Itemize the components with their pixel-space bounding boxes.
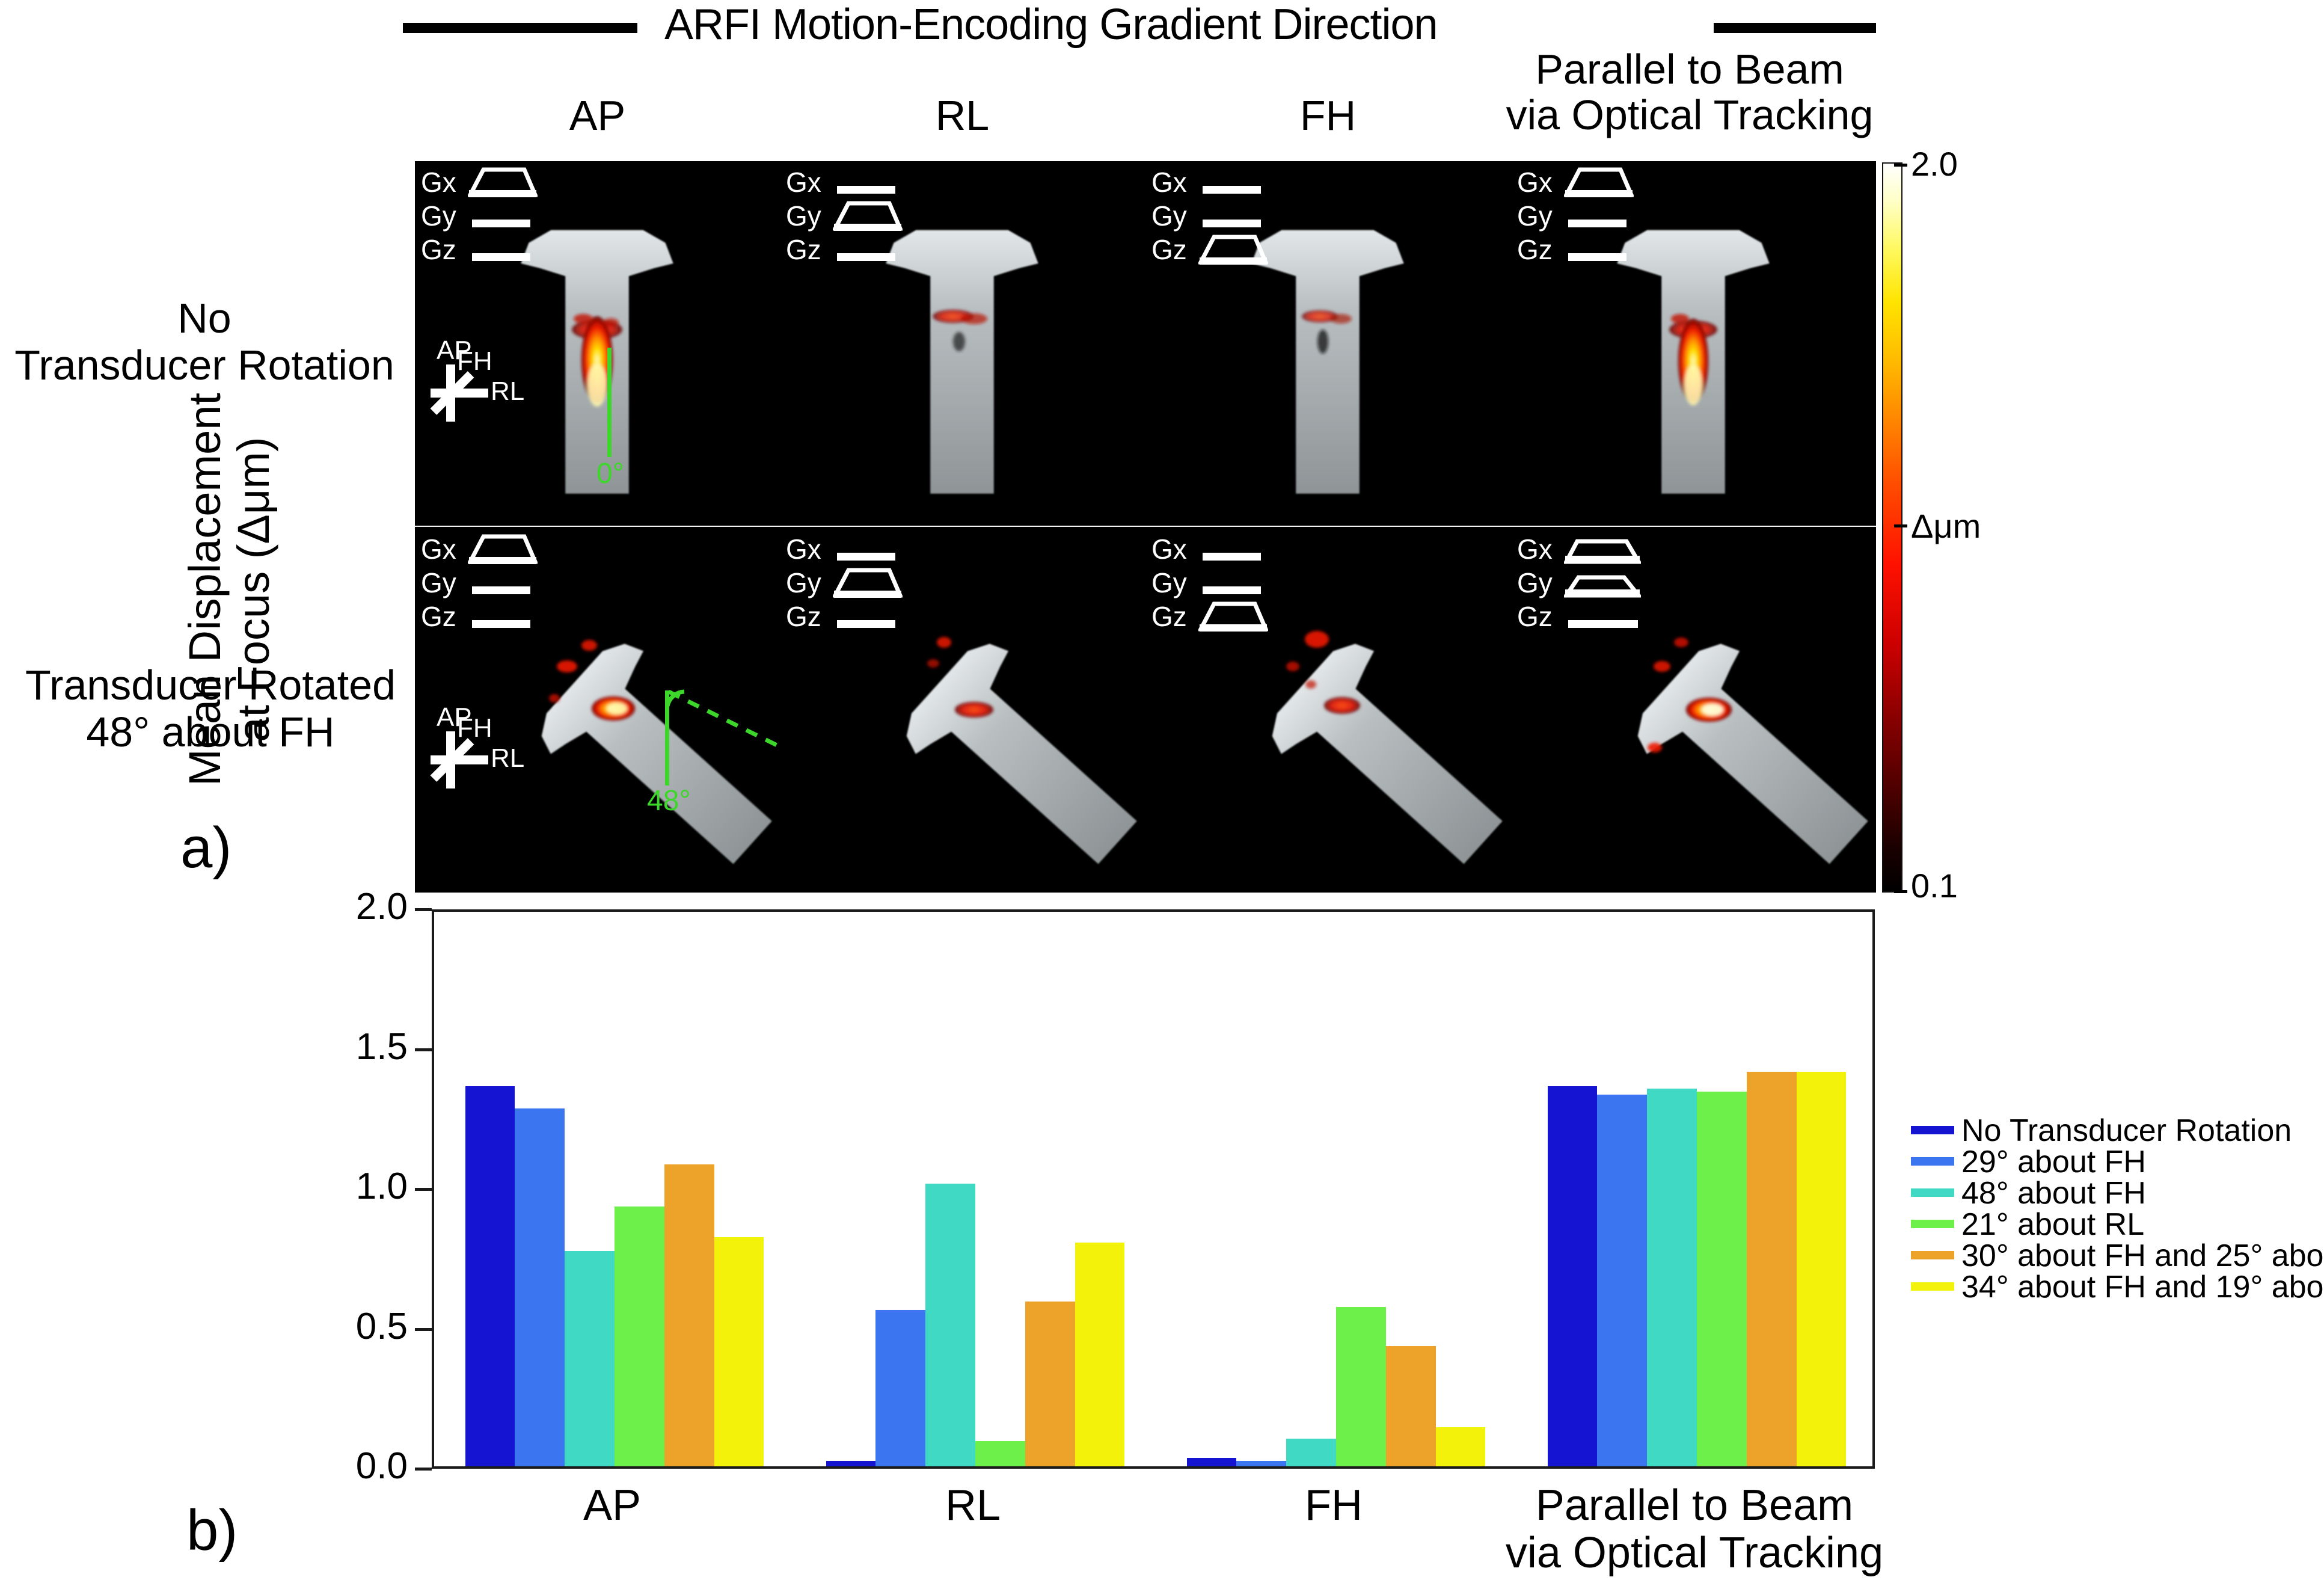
gradient-label-gy: Gy bbox=[1151, 202, 1187, 230]
y-tick-label-1.0: 1.0 bbox=[299, 1165, 408, 1208]
gradient-pulse-gz-icon bbox=[1198, 600, 1268, 635]
figure-root: ARFI Motion-Encoding Gradient Direction … bbox=[0, 0, 2324, 1583]
legend-swatch-0 bbox=[1911, 1126, 1954, 1134]
gradient-pulse-gy-icon bbox=[833, 200, 903, 234]
bar-fh-series5 bbox=[1436, 1427, 1486, 1466]
bar-rl-series2 bbox=[925, 1184, 975, 1466]
bar-ap-series2 bbox=[565, 1251, 615, 1466]
figure-header-title: ARFI Motion-Encoding Gradient Direction bbox=[664, 0, 1438, 49]
gradient-label-gy: Gy bbox=[1517, 569, 1553, 597]
gradient-flat-gz-icon bbox=[837, 253, 895, 261]
colorbar-unit-label: Δμm bbox=[1911, 506, 1981, 546]
bar-rl-series0 bbox=[826, 1461, 876, 1466]
y-tick-label-0.5: 0.5 bbox=[299, 1305, 408, 1348]
gradient-flat-gy-icon bbox=[472, 220, 530, 227]
colorbar-label-max: 2.0 bbox=[1911, 144, 1958, 183]
gradient-label-gy: Gy bbox=[786, 202, 821, 230]
gradient-label-gx: Gx bbox=[1151, 168, 1187, 196]
gradient-label-gz: Gz bbox=[421, 236, 456, 263]
bar-parallel-series1 bbox=[1597, 1095, 1647, 1466]
gradient-label-gx: Gx bbox=[421, 168, 456, 196]
y-axis-title-line2: at Focus (Δμm) bbox=[229, 289, 278, 890]
legend-swatch-4 bbox=[1911, 1251, 1954, 1259]
displacement-colorbar bbox=[1882, 162, 1902, 893]
gradient-pulse-low-gx-icon bbox=[1564, 533, 1641, 567]
gradient-pulse-gz-icon bbox=[1198, 233, 1268, 268]
bar-fh-series2 bbox=[1286, 1439, 1336, 1467]
x-tick-label-parallel: Parallel to Beamvia Optical Tracking bbox=[1424, 1482, 1965, 1577]
column-header-ap: AP bbox=[415, 93, 780, 139]
bar-parallel-series5 bbox=[1797, 1072, 1847, 1466]
gradient-label-gx: Gx bbox=[1517, 535, 1553, 563]
x-tick-label-line2: via Optical Tracking bbox=[1424, 1529, 1965, 1577]
gradient-label-gz: Gz bbox=[1151, 603, 1187, 630]
bar-series-container bbox=[434, 912, 1872, 1466]
gradient-label-gx: Gx bbox=[1517, 168, 1553, 196]
colorbar-tick-mid bbox=[1894, 524, 1907, 527]
legend-swatch-2 bbox=[1911, 1188, 1954, 1197]
panel-b-letter: b) bbox=[186, 1498, 238, 1564]
bar-ap-series4 bbox=[664, 1164, 714, 1466]
bar-ap-series5 bbox=[714, 1237, 764, 1466]
colorbar-label-min: 0.1 bbox=[1911, 866, 1958, 905]
bar-parallel-series0 bbox=[1548, 1086, 1598, 1466]
column-header-rl-line1: RL bbox=[780, 93, 1145, 139]
legend-swatch-3 bbox=[1911, 1220, 1954, 1228]
gradient-label-gx: Gx bbox=[421, 535, 456, 563]
gradient-label-gz: Gz bbox=[1151, 236, 1187, 263]
gradient-label-gz: Gz bbox=[1517, 236, 1553, 263]
legend-label-2: 48° about FH bbox=[1961, 1175, 2146, 1211]
colorbar-tick-max bbox=[1894, 164, 1907, 167]
gradient-flat-gy-icon bbox=[1203, 586, 1261, 594]
gradient-flat-gy-icon bbox=[1203, 220, 1261, 227]
legend-swatch-1 bbox=[1911, 1157, 1954, 1166]
column-header-fh-line1: FH bbox=[1145, 93, 1510, 139]
bar-chart-plot-area bbox=[432, 909, 1875, 1469]
column-header-parallel-beam: Parallel to Beam via Optical Tracking bbox=[1479, 47, 1900, 138]
bar-rl-series1 bbox=[875, 1310, 925, 1466]
y-axis-title: Mean Displacement at Focus (Δμm) bbox=[180, 289, 278, 890]
gradient-label-gz: Gz bbox=[1517, 603, 1553, 630]
mri-image-mosaic: Gx Gy Gz Gx Gy Gz Gx Gy Gz bbox=[415, 161, 1876, 893]
gradient-flat-gy-icon bbox=[472, 586, 530, 594]
column-header-parallel-line1: Parallel to Beam bbox=[1479, 47, 1900, 93]
orientation-label-fh: FH bbox=[457, 346, 492, 377]
gradient-pulse-low-gy-icon bbox=[1564, 567, 1641, 601]
column-header-fh: FH bbox=[1145, 93, 1510, 139]
bar-parallel-series4 bbox=[1747, 1072, 1797, 1466]
orientation-label-fh: FH bbox=[457, 713, 492, 743]
bar-fh-series0 bbox=[1187, 1458, 1237, 1466]
bar-rl-series4 bbox=[1025, 1302, 1075, 1466]
gradient-label-gx: Gx bbox=[1151, 535, 1187, 563]
bar-ap-series1 bbox=[515, 1108, 565, 1466]
gradient-flat-gy-icon bbox=[1568, 220, 1626, 227]
gradient-flat-gx-icon bbox=[1203, 186, 1261, 194]
legend-label-1: 29° about FH bbox=[1961, 1144, 2146, 1180]
colorbar-tick-min bbox=[1894, 890, 1907, 893]
column-header-parallel-line2: via Optical Tracking bbox=[1479, 93, 1900, 138]
bar-fh-series1 bbox=[1236, 1461, 1286, 1466]
gradient-label-gz: Gz bbox=[421, 603, 456, 630]
bar-parallel-series2 bbox=[1647, 1089, 1697, 1466]
legend-label-3: 21° about RL bbox=[1961, 1206, 2144, 1243]
x-tick-label-line1: Parallel to Beam bbox=[1424, 1482, 1965, 1529]
y-axis-title-line1: Mean Displacement bbox=[180, 289, 229, 890]
gradient-flat-gz-icon bbox=[472, 620, 530, 628]
gradient-flat-gx-icon bbox=[837, 186, 895, 194]
column-header-ap-line1: AP bbox=[415, 93, 780, 139]
legend-swatch-5 bbox=[1911, 1282, 1954, 1291]
gradient-label-gx: Gx bbox=[786, 535, 821, 563]
angle-label-row1: 0° bbox=[596, 457, 624, 490]
gradient-flat-gx-icon bbox=[1203, 553, 1261, 561]
gradient-label-gy: Gy bbox=[786, 569, 821, 597]
y-tick-2.0 bbox=[415, 908, 432, 911]
y-tick-1.5 bbox=[415, 1048, 432, 1051]
gradient-pulse-gx-icon bbox=[468, 533, 538, 567]
gradient-label-gy: Gy bbox=[421, 569, 456, 597]
bar-ap-series3 bbox=[615, 1206, 664, 1466]
legend-label-4: 30° about FH and 25° about RL bbox=[1961, 1238, 2324, 1274]
gradient-label-gz: Gz bbox=[786, 236, 821, 263]
bar-fh-series4 bbox=[1386, 1346, 1436, 1466]
gradient-label-gx: Gx bbox=[786, 168, 821, 196]
bar-rl-series5 bbox=[1075, 1243, 1125, 1466]
gradient-flat-gz-icon bbox=[472, 253, 530, 261]
angle-reference-line-row2 bbox=[665, 690, 669, 785]
gradient-flat-gx-icon bbox=[837, 553, 895, 561]
gradient-label-gy: Gy bbox=[421, 202, 456, 230]
y-tick-label-1.5: 1.5 bbox=[299, 1025, 408, 1068]
bar-rl-series3 bbox=[975, 1441, 1025, 1466]
column-header-rl: RL bbox=[780, 93, 1145, 139]
gradient-label-gz: Gz bbox=[786, 603, 821, 630]
header-rule-right bbox=[1714, 23, 1876, 33]
gradient-pulse-gy-icon bbox=[833, 567, 903, 601]
bar-fh-series3 bbox=[1336, 1307, 1386, 1466]
legend-label-0: No Transducer Rotation bbox=[1961, 1113, 2292, 1149]
bar-parallel-series3 bbox=[1697, 1092, 1747, 1466]
y-tick-1.0 bbox=[415, 1188, 432, 1191]
angle-reference-line-row1 bbox=[607, 348, 612, 457]
gradient-flat-gz-icon bbox=[1568, 253, 1626, 261]
orientation-label-rl: RL bbox=[491, 377, 524, 407]
header-rule-left bbox=[403, 23, 637, 33]
bar-ap-series0 bbox=[465, 1086, 515, 1466]
gradient-pulse-gx-icon bbox=[1564, 166, 1634, 200]
orientation-label-rl: RL bbox=[491, 743, 524, 773]
gradient-flat-gz-icon bbox=[837, 620, 895, 628]
y-tick-label-2.0: 2.0 bbox=[299, 885, 408, 928]
y-tick-0.5 bbox=[415, 1328, 432, 1331]
y-tick-0.0 bbox=[415, 1468, 432, 1471]
gradient-label-gy: Gy bbox=[1517, 202, 1553, 230]
legend-label-5: 34° about FH and 19° about RL bbox=[1961, 1269, 2324, 1305]
gradient-label-gy: Gy bbox=[1151, 569, 1187, 597]
y-tick-label-0.0: 0.0 bbox=[299, 1445, 408, 1487]
gradient-flat-gz-icon bbox=[1568, 620, 1638, 628]
angle-label-row2: 48° bbox=[647, 784, 691, 817]
gradient-pulse-gx-icon bbox=[468, 166, 538, 200]
